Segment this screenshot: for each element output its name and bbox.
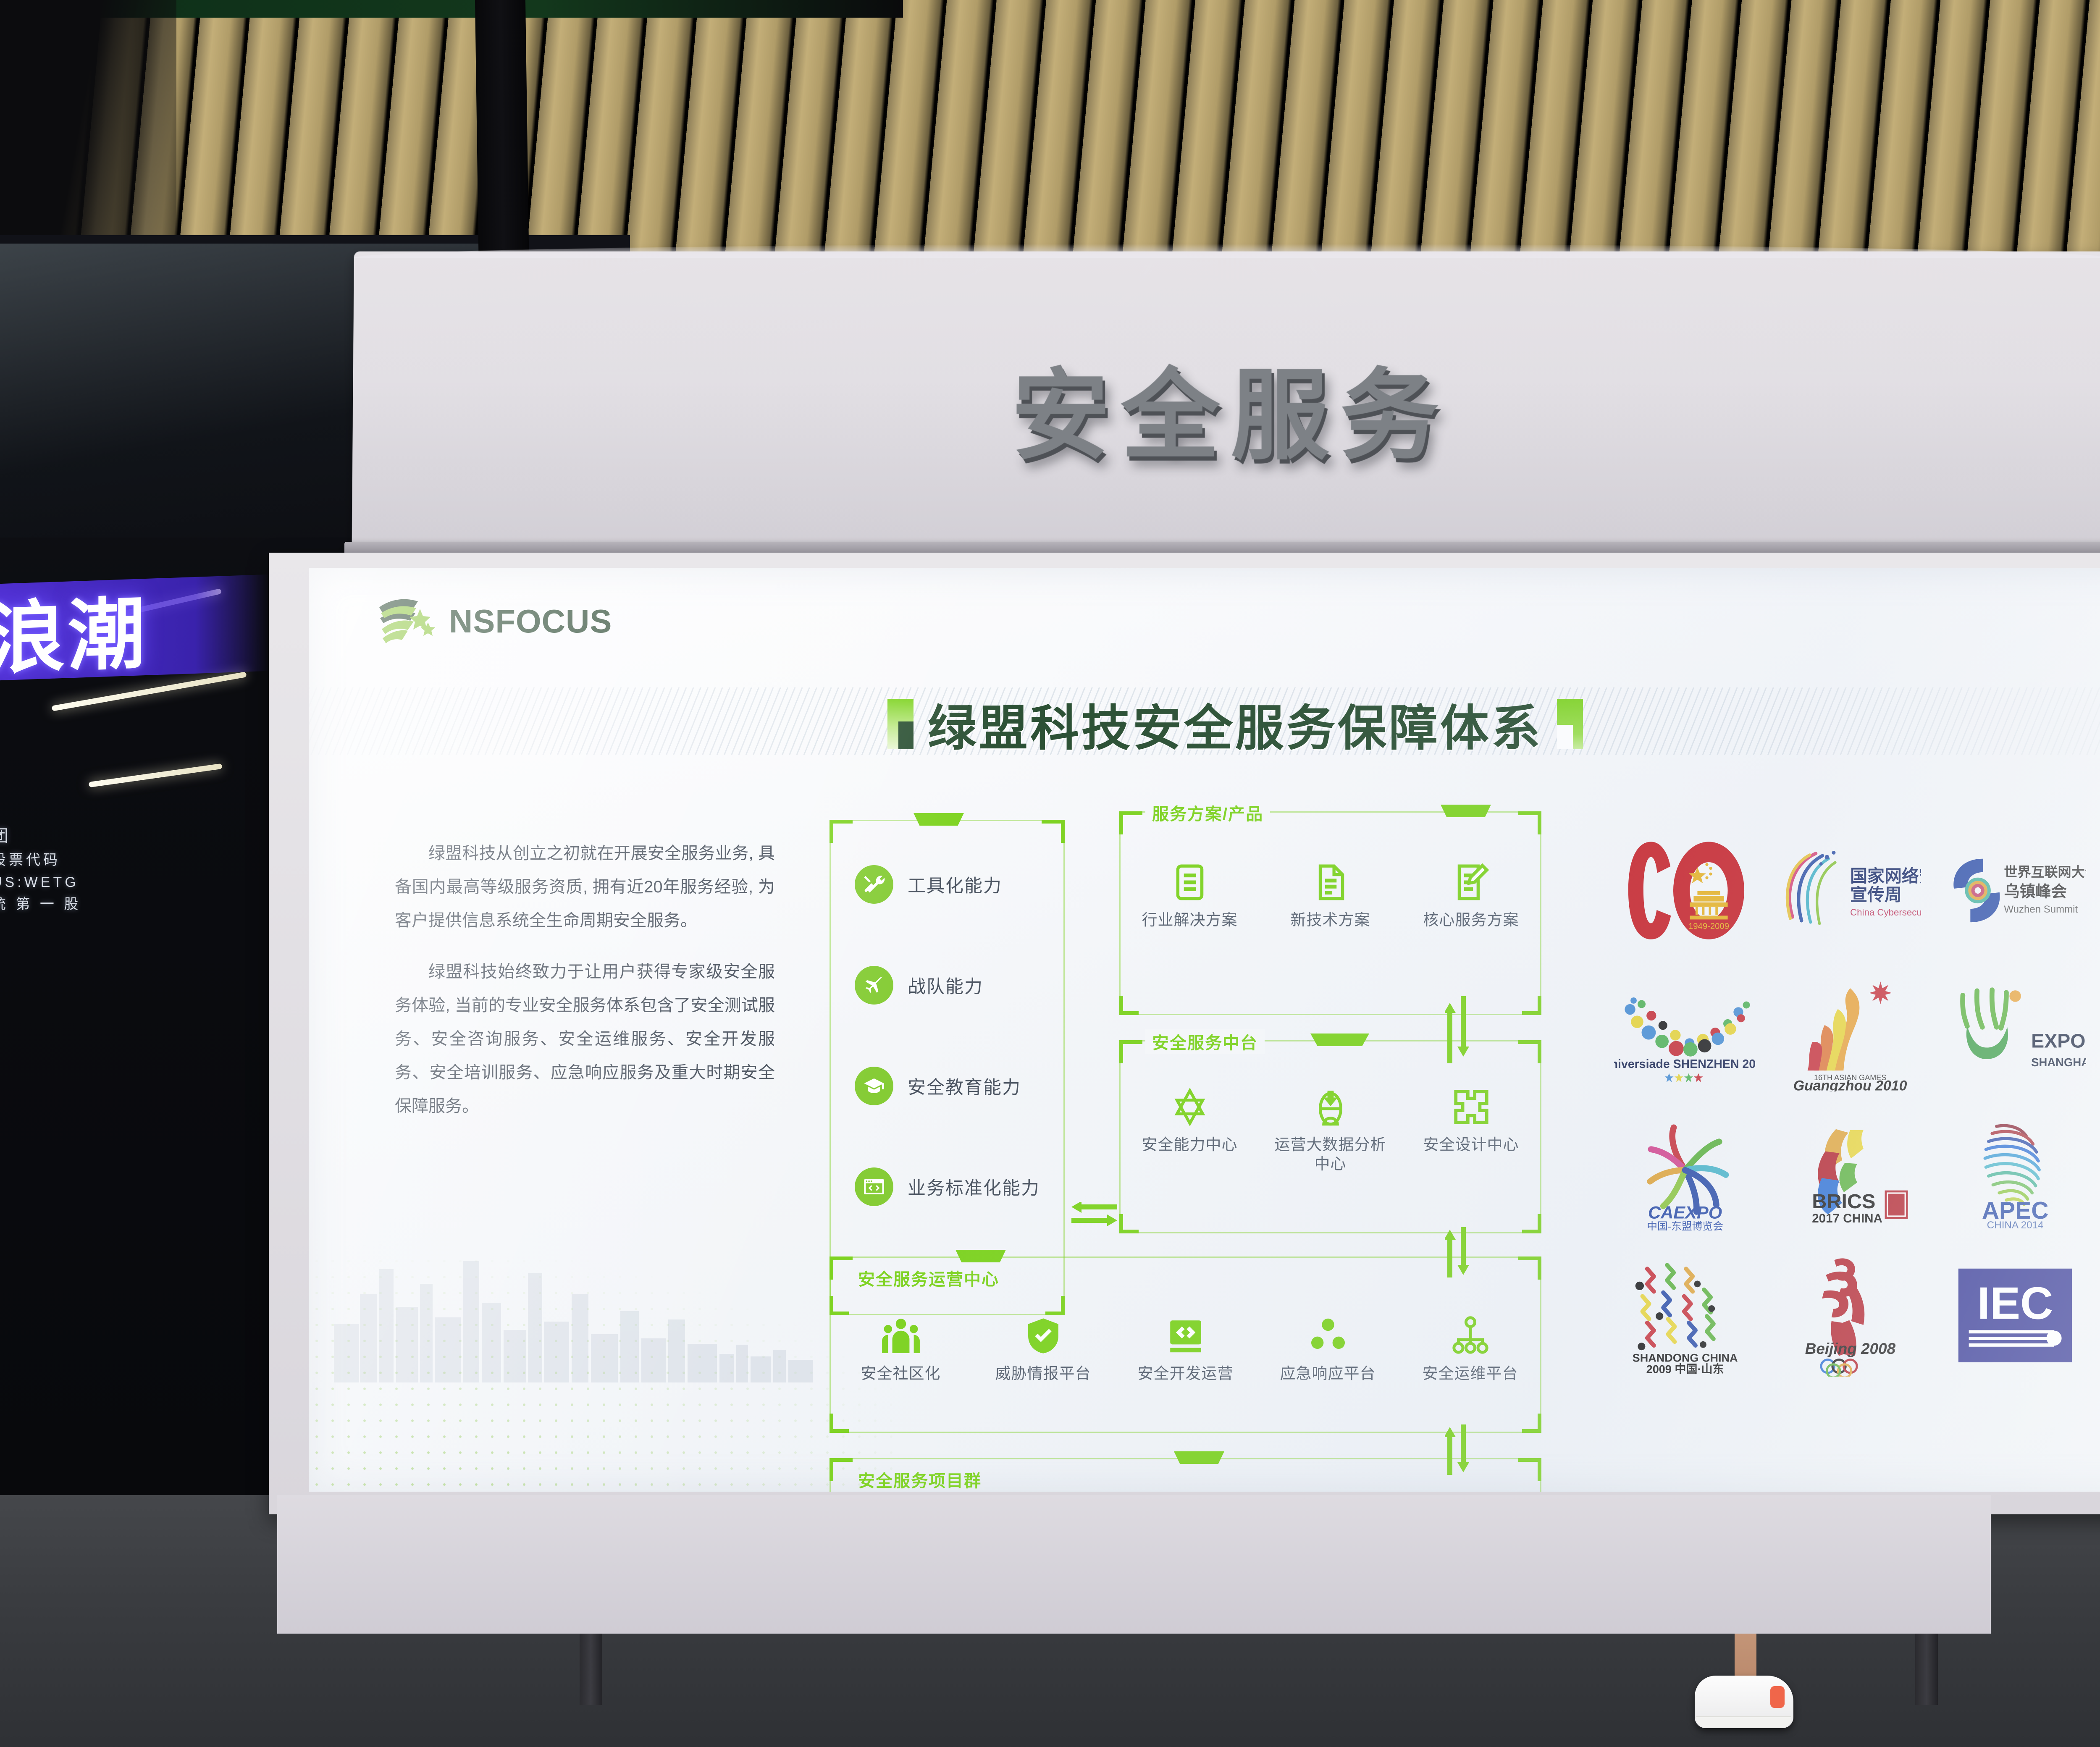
projects-box: 安全服务项目群 安全规划类 项目 xyxy=(829,1458,1541,1492)
capabilities-box: 工具化能力 战队能力 安全教育能力 xyxy=(829,820,1065,1315)
solutions-item-row: 行业解决方案 新技术方案 xyxy=(1119,862,1541,930)
operations-box-title: 安全服务运营中心 xyxy=(851,1266,1006,1290)
horizontal-exchange-arrow xyxy=(1069,1202,1117,1229)
logo-guangzhou-title: Guangzhou 2010 xyxy=(1793,1078,1907,1091)
poster-headline: 绿盟科技安全服务保障体系 xyxy=(309,689,2100,759)
operations-item[interactable]: 安全开发运营 xyxy=(1127,1315,1244,1383)
booth-header-title: 安全服务 xyxy=(352,335,2100,478)
document-list-icon xyxy=(1169,862,1210,903)
org-tree-icon xyxy=(1450,1315,1491,1356)
solution-label: 行业解决方案 xyxy=(1142,910,1238,930)
capability-list: 工具化能力 战队能力 安全教育能力 xyxy=(855,865,1040,1206)
logo-prc-60th-sub: 1949-2009 xyxy=(1688,922,1729,931)
operations-item[interactable]: 安全社区化 xyxy=(842,1315,960,1383)
capability-label: 业务标准化能力 xyxy=(908,1174,1040,1200)
headline-right-bar xyxy=(1557,699,1583,749)
platform-label: 安全设计中心 xyxy=(1423,1135,1519,1154)
solution-item[interactable]: 核心服务方案 xyxy=(1408,862,1534,930)
logo-expo-title: EXPO 2010 xyxy=(2031,1030,2086,1052)
platform-item-row: 安全能力中心 运营大数据分析中心 xyxy=(1119,1086,1541,1174)
platform-label: 安全能力中心 xyxy=(1142,1135,1238,1154)
operations-box: 安全服务运营中心 安全社区化 xyxy=(829,1256,1541,1433)
logo-china-cybersecurity-week: 国家网络安全 宣传周 China Cybersecurity Week xyxy=(1767,820,1932,961)
logo-beijing-2008: Beijing 2008 xyxy=(1767,1245,1932,1387)
poster-headline-text: 绿盟科技安全服务保障体系 xyxy=(928,689,1543,759)
capability-item[interactable]: 安全教育能力 xyxy=(855,1067,1040,1105)
nsfocus-brand-logo: NSFOCUS xyxy=(376,596,612,646)
logo-wuzhen-summit: 世界互联网大会 乌镇峰会 Wuzhen Summit xyxy=(1933,820,2098,961)
vertical-exchange-arrow xyxy=(1445,1227,1472,1277)
credential-logo-grid: 1949-2009 国家网络安全 xyxy=(1602,820,2098,1387)
hall-text-line-4: 统 第 一 股 xyxy=(0,893,210,915)
nsfocus-mark-icon xyxy=(376,596,440,646)
logo-ccw-sub: China Cybersecurity Week xyxy=(1850,907,1921,918)
platform-item[interactable]: 安全能力中心 xyxy=(1127,1086,1253,1174)
solution-label: 新技术方案 xyxy=(1291,910,1370,930)
capability-label: 战队能力 xyxy=(908,972,983,998)
capability-item[interactable]: 业务标准化能力 xyxy=(855,1167,1040,1206)
platform-item[interactable]: 安全设计中心 xyxy=(1408,1086,1534,1174)
hall-text-line-2: 股票代码 xyxy=(0,849,210,871)
logo-prc-60th: 1949-2009 xyxy=(1602,820,1767,961)
logo-iec: IEC xyxy=(1933,1245,2098,1387)
logo-universiade-shenzhen: Universiade SHENZHEN 2011 xyxy=(1602,961,1767,1103)
operations-label: 安全开发运营 xyxy=(1138,1364,1234,1383)
logo-brics-title: BRICS xyxy=(1812,1190,1875,1213)
puzzle-icon xyxy=(1451,1086,1492,1128)
solution-label: 核心服务方案 xyxy=(1423,910,1519,930)
logo-expo-sub: SHANGHAI CHINA xyxy=(2031,1056,2086,1069)
platform-label: 运营大数据分析中心 xyxy=(1268,1135,1394,1174)
capability-item[interactable]: 工具化能力 xyxy=(855,865,1040,904)
inspur-neon-sign: 浪潮 xyxy=(0,574,269,681)
hall-text-line-1: 团 xyxy=(0,823,210,849)
operations-item-row: 安全社区化 威胁情报平台 xyxy=(829,1315,1541,1383)
tools-icon xyxy=(855,865,893,904)
projects-box-title: 安全服务项目群 xyxy=(851,1467,988,1492)
solutions-box-title: 服务方案/产品 xyxy=(1145,800,1270,825)
ceiling-slats xyxy=(0,0,2100,269)
logo-caexpo: CAEXPO 中国-东盟博览会 xyxy=(1602,1103,1767,1245)
logo-universiade-title: Universiade SHENZHEN 2011 xyxy=(1614,1057,1756,1071)
board-bottom-skirt xyxy=(277,1495,1991,1634)
intro-paragraph-2: 绿盟科技始终致力于让用户获得专家级安全服务体验, 当前的专业安全服务体系包含了安… xyxy=(395,955,775,1123)
solutions-box: 服务方案/产品 行业解决方案 xyxy=(1119,811,1541,1015)
logo-expo-2010-shanghai: EXPO 2010 SHANGHAI CHINA xyxy=(1933,961,2098,1103)
globe-arrow-icon xyxy=(1310,1086,1351,1128)
logo-shandong-2009: SHANDONG CHINA 2009 中国·山东 xyxy=(1602,1245,1767,1387)
logo-iec-title: IEC xyxy=(1977,1278,2053,1329)
logo-shandong-sub: 2009 中国·山东 xyxy=(1646,1362,1724,1375)
shield-check-icon xyxy=(1023,1315,1064,1356)
intro-text-block: 绿盟科技从创立之初就在开展安全服务业务, 具备国内最高等级服务资质, 拥有近20… xyxy=(395,837,775,1141)
operations-label: 安全社区化 xyxy=(861,1364,941,1383)
intro-paragraph-1: 绿盟科技从创立之初就在开展安全服务业务, 具备国内最高等级服务资质, 拥有近20… xyxy=(395,837,775,937)
capability-item[interactable]: 战队能力 xyxy=(855,966,1040,1005)
logo-apec-china-2014: APEC CHINA 2014 xyxy=(1933,1103,2098,1245)
booth-header-panel: 安全服务 xyxy=(352,252,2100,575)
logo-beijing-title: Beijing 2008 xyxy=(1805,1340,1895,1358)
logo-shandong-title: SHANDONG CHINA xyxy=(1632,1351,1738,1364)
logo-caexpo-title: CAEXPO xyxy=(1648,1202,1722,1222)
service-system-diagram: 工具化能力 战队能力 安全教育能力 xyxy=(829,811,1552,1429)
hexagram-icon xyxy=(1169,1086,1210,1128)
document-page-icon xyxy=(1310,862,1351,903)
code-window-icon xyxy=(855,1167,893,1206)
city-skyline-watermark xyxy=(334,1244,829,1382)
logo-guangzhou-2010: 16TH ASIAN GAMES Guangzhou 2010 xyxy=(1767,961,1932,1103)
logo-apec-sub: CHINA 2014 xyxy=(1987,1220,2044,1229)
document-pencil-icon xyxy=(1451,862,1492,903)
jet-icon xyxy=(855,966,893,1005)
logo-wuzhen-sub: Wuzhen Summit xyxy=(2004,904,2078,915)
headline-left-bar xyxy=(887,699,913,749)
platform-box: 安全服务中台 安全能力中心 xyxy=(1119,1040,1541,1233)
hall-text-line-3: US:WETG xyxy=(0,871,210,894)
logo-wuzhen-title-1: 世界互联网大会 xyxy=(2004,865,2087,880)
hall-booth-text: 团 股票代码 US:WETG 统 第 一 股 xyxy=(0,823,210,915)
operations-item[interactable]: 安全运维平台 xyxy=(1412,1315,1529,1383)
platform-box-title: 安全服务中台 xyxy=(1145,1029,1265,1054)
operations-item[interactable]: 威胁情报平台 xyxy=(984,1315,1102,1383)
logo-ccw-title-1: 国家网络安全 xyxy=(1850,866,1921,886)
vertical-exchange-arrow xyxy=(1445,1424,1472,1475)
operations-item[interactable]: 应急响应平台 xyxy=(1269,1315,1387,1383)
code-brackets-icon xyxy=(1165,1315,1206,1356)
nsfocus-wordmark: NSFOCUS xyxy=(449,602,612,640)
vertical-exchange-arrow xyxy=(1445,996,1472,1063)
logo-brics-2017-china: BRICS 2017 CHINA xyxy=(1767,1103,1932,1245)
graduation-cap-icon xyxy=(855,1067,893,1105)
exhibition-hall-scene: 浪潮 团 股票代码 US:WETG 统 第 一 股 0101 010 10101… xyxy=(0,0,2100,1747)
people-icon xyxy=(880,1315,921,1356)
logo-wuzhen-title-2: 乌镇峰会 xyxy=(2004,883,2067,900)
solution-item[interactable]: 行业解决方案 xyxy=(1127,862,1253,930)
logo-brics-sub: 2017 CHINA xyxy=(1812,1211,1882,1225)
logo-ccw-title-2: 宣传周 xyxy=(1850,885,1902,905)
logo-caexpo-sub: 中国-东盟博览会 xyxy=(1647,1220,1723,1230)
capability-label: 工具化能力 xyxy=(908,871,1002,897)
recycle-nodes-icon xyxy=(1307,1315,1349,1356)
operations-label: 安全运维平台 xyxy=(1423,1364,1518,1383)
capability-label: 安全教育能力 xyxy=(908,1073,1021,1099)
operations-label: 应急响应平台 xyxy=(1280,1364,1376,1383)
operations-label: 威胁情报平台 xyxy=(995,1364,1091,1383)
platform-item[interactable]: 运营大数据分析中心 xyxy=(1268,1086,1394,1174)
security-service-poster: NSFOCUS 绿盟科技安全服务保障体系 绿盟科技从创立之初就在开展安全服务业务… xyxy=(309,568,2100,1492)
solution-item[interactable]: 新技术方案 xyxy=(1268,862,1394,930)
sneaker-heel-accent xyxy=(1770,1686,1785,1708)
